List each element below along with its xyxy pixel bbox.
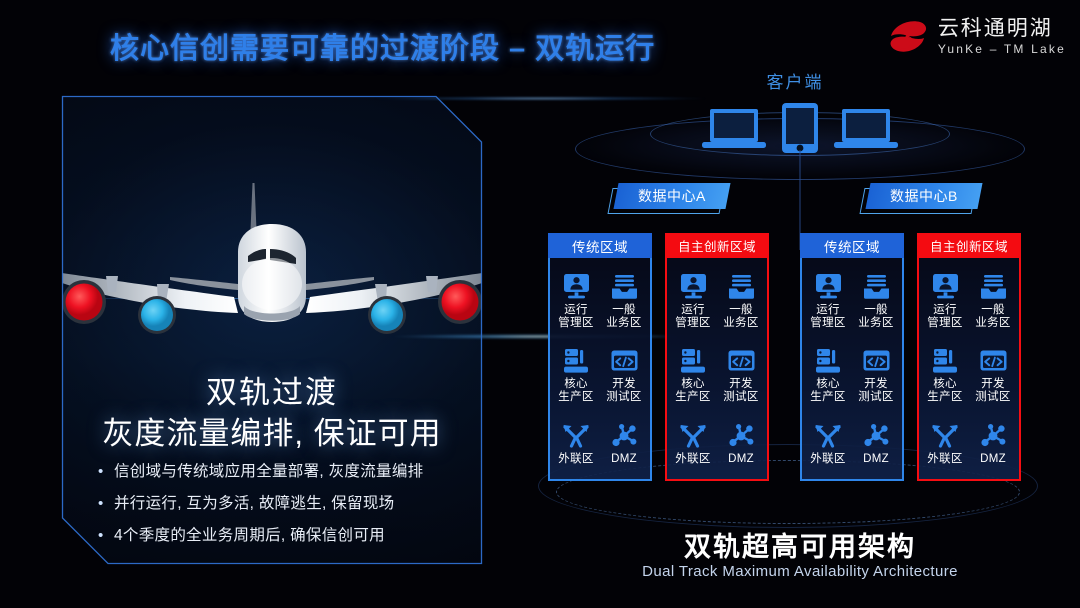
zone-cell[interactable]: 一般业务区: [600, 273, 648, 330]
zone-cell[interactable]: 一般业务区: [717, 273, 765, 330]
page-title: 核心信创需要可靠的过渡阶段 – 双轨运行: [110, 25, 655, 67]
zone-cell-label: 外联区: [810, 453, 845, 466]
zone-cell-label: 一般业务区: [723, 304, 758, 330]
zone-cell[interactable]: DMZ: [600, 422, 648, 466]
zone-body: 运行管理区一般业务区核心生产区开发测试区外联区DMZ: [665, 258, 769, 481]
data-center-a-banner[interactable]: 数据中心A: [610, 183, 728, 213]
zone-cell[interactable]: 开发测试区: [852, 347, 900, 404]
zone-cell-label: 外联区: [675, 453, 710, 466]
server-stack-icon: [563, 347, 590, 375]
zone-cell[interactable]: 一般业务区: [969, 273, 1017, 330]
swirl-logo-icon: [887, 16, 929, 58]
network-nodes-icon: [610, 422, 638, 450]
zone-cell-label: 开发测试区: [723, 378, 758, 404]
bullet-text: 信创域与传统域应用全量部署, 灰度流量编排: [114, 462, 423, 481]
zone-body: 运行管理区一般业务区核心生产区开发测试区外联区DMZ: [548, 258, 652, 481]
zone-column-innovation-a[interactable]: 自主创新区域 运行管理区一般业务区核心生产区开发测试区外联区DMZ: [665, 233, 769, 481]
zone-column-traditional-b[interactable]: 传统区域 运行管理区一般业务区核心生产区开发测试区外联区DMZ: [800, 233, 904, 481]
bullet-text: 并行运行, 互为多活, 故障逃生, 保留现场: [114, 494, 394, 513]
tablet-icon: [782, 103, 818, 153]
user-monitor-icon: [815, 273, 842, 301]
crossing-arrows-icon: [931, 422, 959, 450]
network-nodes-icon: [862, 422, 890, 450]
panel-heading-secondary: 灰度流量编排, 保证可用: [52, 408, 492, 453]
zone-cell-label: 运行管理区: [927, 304, 962, 330]
zone-cell-label: 开发测试区: [858, 378, 893, 404]
user-monitor-icon: [680, 273, 707, 301]
list-item: • 并行运行, 互为多活, 故障逃生, 保留现场: [98, 494, 488, 513]
bullet-marker-icon: •: [98, 494, 106, 513]
zone-cell-label: 一般业务区: [606, 304, 641, 330]
banner-fill: 数据中心A: [613, 183, 730, 209]
server-stack-icon: [932, 347, 959, 375]
code-brackets-icon: [728, 347, 755, 375]
logo-name-en: YunKe – TM Lake: [938, 43, 1066, 56]
data-center-b-label: 数据中心B: [890, 186, 958, 206]
diagram-caption-cn: 双轨超高可用架构: [600, 525, 1000, 564]
zone-cell-label: 运行管理区: [810, 304, 845, 330]
zone-cell-label: 运行管理区: [558, 304, 593, 330]
laptop-icon: [834, 109, 898, 148]
zone-cell[interactable]: DMZ: [969, 422, 1017, 466]
zone-cell[interactable]: 核心生产区: [552, 347, 600, 404]
zone-header: 传统区域: [800, 233, 904, 258]
crossing-arrows-icon: [679, 422, 707, 450]
panel-heading-primary: 双轨过渡: [62, 367, 482, 412]
zone-column-innovation-b[interactable]: 自主创新区域 运行管理区一般业务区核心生产区开发测试区外联区DMZ: [917, 233, 1021, 481]
zone-cell[interactable]: 核心生产区: [804, 347, 852, 404]
zone-cell[interactable]: 运行管理区: [669, 273, 717, 330]
zone-cell-label: 核心生产区: [675, 378, 710, 404]
bullet-list: • 信创域与传统域应用全量部署, 灰度流量编排 • 并行运行, 互为多活, 故障…: [98, 462, 488, 558]
client-device-group: [700, 103, 900, 155]
code-brackets-icon: [611, 347, 638, 375]
zone-cell-label: DMZ: [863, 453, 889, 466]
logo-name-cn: 云科通明湖: [938, 18, 1066, 40]
diagram-caption-en: Dual Track Maximum Availability Architec…: [600, 563, 1000, 580]
zone-cell-label: 外联区: [927, 453, 962, 466]
server-stack-icon: [815, 347, 842, 375]
server-stack-icon: [680, 347, 707, 375]
brand-logo: 云科通明湖 YunKe – TM Lake: [887, 16, 1066, 58]
zone-cell[interactable]: DMZ: [852, 422, 900, 466]
zone-cell[interactable]: 运行管理区: [552, 273, 600, 330]
inbox-tray-icon: [728, 273, 755, 301]
zone-cell-label: 外联区: [558, 453, 593, 466]
zone-cell[interactable]: 运行管理区: [921, 273, 969, 330]
zone-cell[interactable]: 一般业务区: [852, 273, 900, 330]
user-monitor-icon: [932, 273, 959, 301]
zone-cell[interactable]: 外联区: [921, 422, 969, 466]
airplane-illustration: [62, 180, 482, 365]
crossing-arrows-icon: [562, 422, 590, 450]
network-nodes-icon: [979, 422, 1007, 450]
slide-root: 核心信创需要可靠的过渡阶段 – 双轨运行 云科通明湖 YunKe – TM La…: [0, 0, 1080, 608]
zone-cell[interactable]: 开发测试区: [717, 347, 765, 404]
zone-cell-label: 核心生产区: [558, 378, 593, 404]
zone-cell-label: 核心生产区: [927, 378, 962, 404]
data-center-b-banner[interactable]: 数据中心B: [862, 183, 980, 213]
zone-cell-label: 一般业务区: [858, 304, 893, 330]
zone-body: 运行管理区一般业务区核心生产区开发测试区外联区DMZ: [917, 258, 1021, 481]
zone-cell[interactable]: 运行管理区: [804, 273, 852, 330]
code-brackets-icon: [980, 347, 1007, 375]
zone-cell-label: 运行管理区: [675, 304, 710, 330]
crossing-arrows-icon: [814, 422, 842, 450]
zone-header: 自主创新区域: [917, 233, 1021, 258]
inbox-tray-icon: [611, 273, 638, 301]
zone-cell[interactable]: DMZ: [717, 422, 765, 466]
data-center-a-label: 数据中心A: [638, 186, 706, 206]
zone-header: 传统区域: [548, 233, 652, 258]
user-monitor-icon: [563, 273, 590, 301]
list-item: • 信创域与传统域应用全量部署, 灰度流量编排: [98, 462, 488, 481]
zone-cell-label: DMZ: [611, 453, 637, 466]
zone-cell-label: 开发测试区: [606, 378, 641, 404]
zone-cell[interactable]: 核心生产区: [921, 347, 969, 404]
zone-cell[interactable]: 外联区: [669, 422, 717, 466]
inbox-tray-icon: [863, 273, 890, 301]
zone-cell[interactable]: 外联区: [552, 422, 600, 466]
zone-cell-label: 一般业务区: [975, 304, 1010, 330]
bullet-marker-icon: •: [98, 526, 106, 545]
zone-header: 自主创新区域: [665, 233, 769, 258]
zone-column-traditional-a[interactable]: 传统区域 运行管理区一般业务区核心生产区开发测试区外联区DMZ: [548, 233, 652, 481]
client-tier-label: 客户端: [735, 68, 855, 93]
zone-cell[interactable]: 核心生产区: [669, 347, 717, 404]
zone-cell[interactable]: 开发测试区: [969, 347, 1017, 404]
inbox-tray-icon: [980, 273, 1007, 301]
network-nodes-icon: [727, 422, 755, 450]
zone-cell-label: DMZ: [980, 453, 1006, 466]
top-light-streak: [370, 97, 710, 100]
list-item: • 4个季度的全业务周期后, 确保信创可用: [98, 526, 488, 545]
zone-cell-label: 核心生产区: [810, 378, 845, 404]
zone-cell[interactable]: 开发测试区: [600, 347, 648, 404]
zone-body: 运行管理区一般业务区核心生产区开发测试区外联区DMZ: [800, 258, 904, 481]
code-brackets-icon: [863, 347, 890, 375]
banner-fill: 数据中心B: [865, 183, 982, 209]
bullet-marker-icon: •: [98, 462, 106, 481]
bullet-text: 4个季度的全业务周期后, 确保信创可用: [114, 526, 385, 545]
zone-cell-label: DMZ: [728, 453, 754, 466]
zone-cell-label: 开发测试区: [975, 378, 1010, 404]
zone-cell[interactable]: 外联区: [804, 422, 852, 466]
laptop-icon: [702, 109, 766, 148]
